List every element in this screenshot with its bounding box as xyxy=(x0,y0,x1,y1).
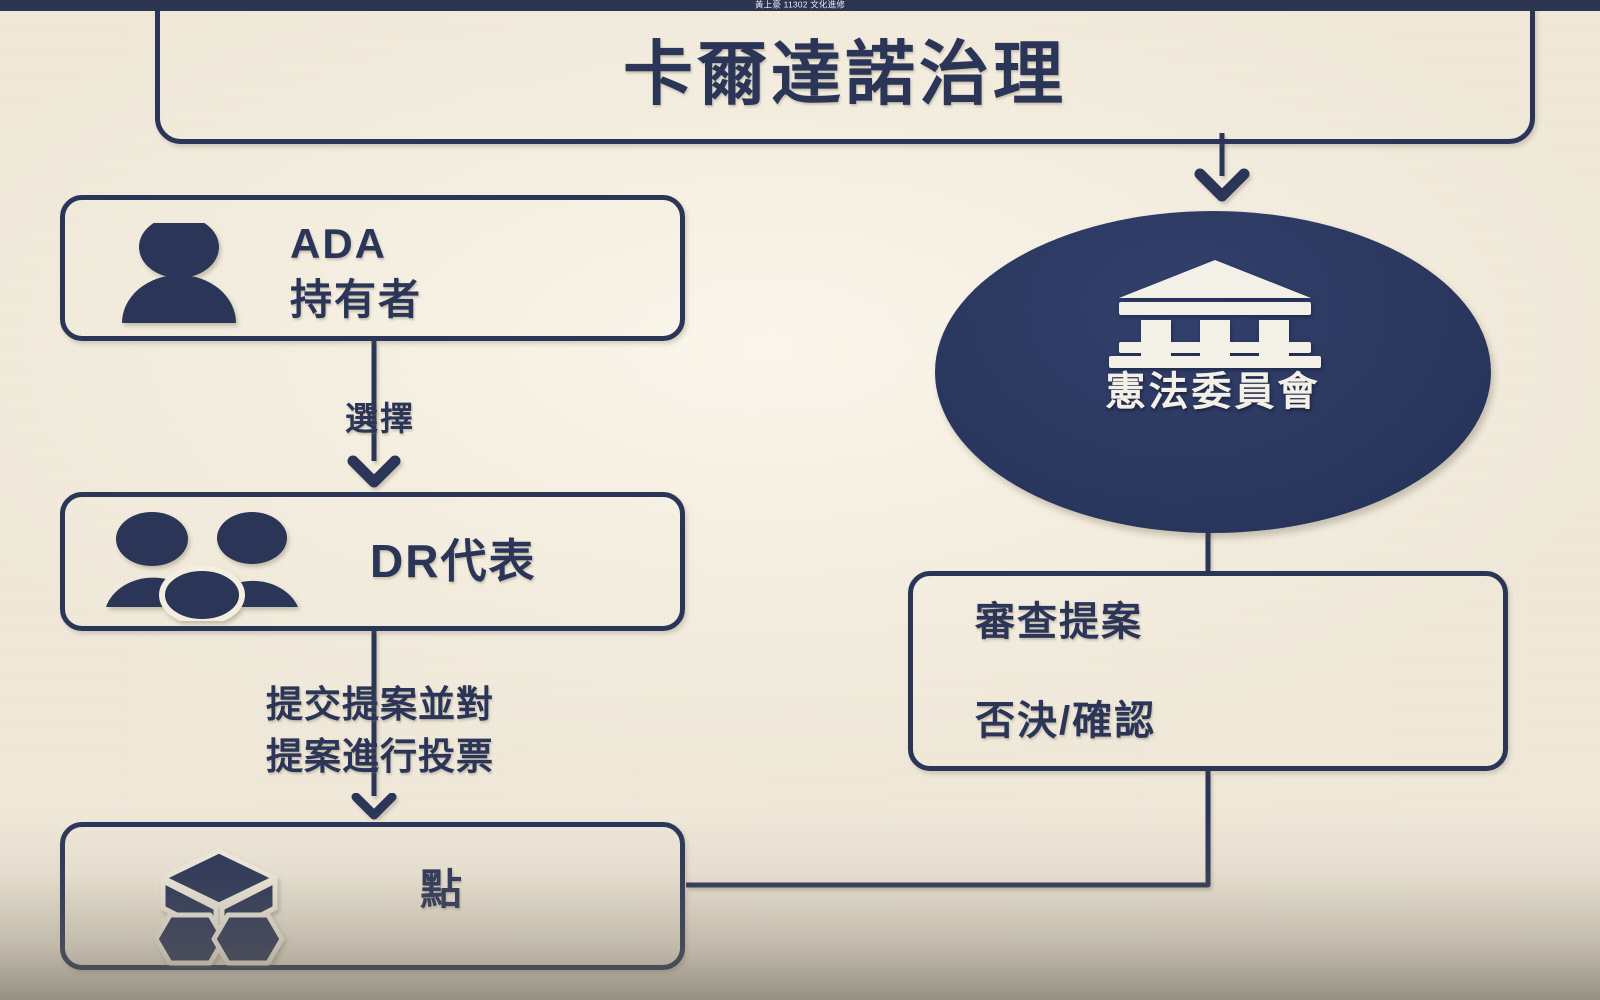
people-group-icon xyxy=(100,511,330,626)
arrowhead-to-committee xyxy=(1200,174,1244,196)
blocks-icon xyxy=(124,847,314,972)
review-box-line-2: 否決/確認 xyxy=(975,694,1475,748)
person-icon xyxy=(112,223,272,328)
bank-icon xyxy=(1105,258,1325,373)
page-title: 卡爾達諾治理 xyxy=(155,31,1535,117)
review-box-line-1: 審查提案 xyxy=(975,595,1475,649)
node-dr-representative-label: DR代表 xyxy=(370,530,670,592)
connector-label-select: 選擇 xyxy=(230,397,530,441)
slide-canvas: 卡爾達諾治理 ADA 持有者 選擇 DR代表 xyxy=(0,11,1600,1000)
wire-review-to-node xyxy=(686,771,1208,885)
window-titlebar: 黃上豪 11302 文化進修 xyxy=(0,0,1600,11)
window-title-text: 黃上豪 11302 文化進修 xyxy=(755,0,845,11)
node-constitutional-committee-label: 憲法委員會 xyxy=(935,366,1491,418)
arrowhead-to-node xyxy=(356,797,392,815)
node-blockchain-node-label: 點 xyxy=(420,861,660,919)
node-ada-holder-label: ADA 持有者 xyxy=(290,216,660,328)
screen-root: 黃上豪 11302 文化進修 xyxy=(0,0,1600,1000)
connector-label-submit-and-vote: 提交提案並對 提案進行投票 xyxy=(180,679,580,783)
arrowhead-to-dr xyxy=(353,461,395,482)
